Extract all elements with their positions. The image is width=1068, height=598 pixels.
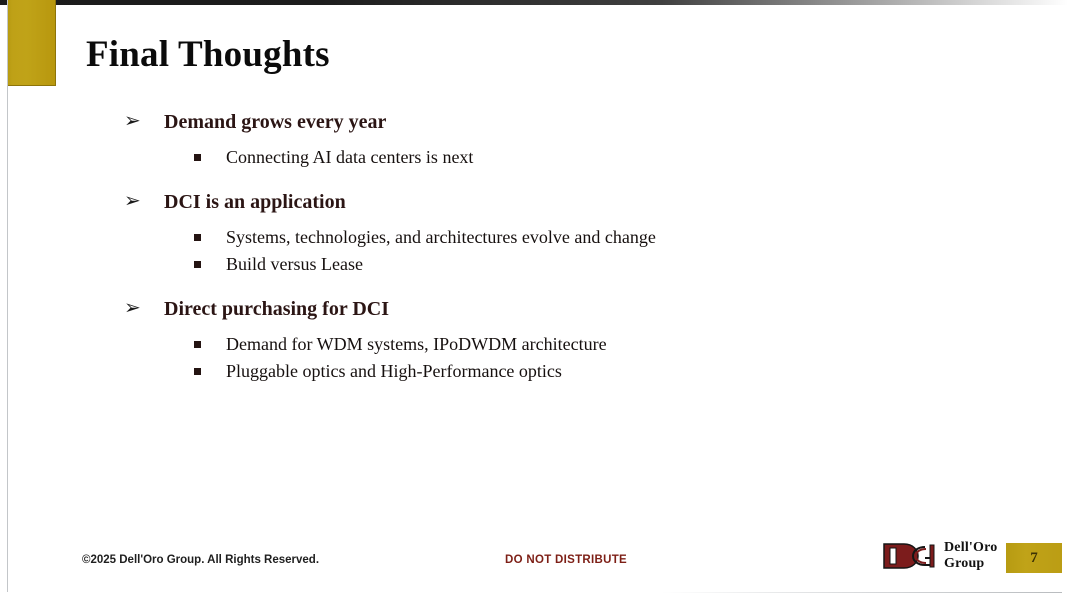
slide-left-border [7, 0, 8, 592]
footer-copyright: ©2025 Dell'Oro Group. All Rights Reserve… [82, 554, 319, 566]
bullet-level1: ➢ Demand grows every year [118, 112, 978, 132]
dg-monogram-icon [882, 540, 938, 572]
bullet-level1: ➢ DCI is an application [118, 192, 978, 212]
page-number-badge: 7 [1006, 543, 1062, 573]
spacer [118, 282, 978, 299]
logo-line-2: Group [944, 557, 997, 571]
bullet-level2: Pluggable optics and High-Performance op… [118, 362, 978, 380]
footer-confidentiality-notice: DO NOT DISTRIBUTE [505, 554, 627, 566]
slide-canvas: Final Thoughts ➢ Demand grows every year… [0, 0, 1068, 598]
square-bullet-icon [194, 261, 201, 268]
page-title: Final Thoughts [86, 36, 330, 75]
bullet-level2-label: Demand for WDM systems, IPoDWDM architec… [226, 334, 607, 354]
slide-bottom-border [7, 592, 1062, 593]
spacer [118, 175, 978, 192]
bullet-list: ➢ Demand grows every year Connecting AI … [118, 112, 978, 389]
company-logo: Dell'Oro Group [882, 540, 997, 572]
logo-wordmark: Dell'Oro Group [944, 541, 997, 571]
gold-accent-block [8, 0, 56, 86]
bullet-level1-label: DCI is an application [164, 191, 346, 213]
arrow-bullet-icon: ➢ [124, 297, 141, 317]
arrow-bullet-icon: ➢ [124, 190, 141, 210]
bullet-level2-label: Build versus Lease [226, 254, 363, 274]
bullet-group: ➢ Demand grows every year Connecting AI … [118, 112, 978, 166]
bullet-level1-label: Demand grows every year [164, 111, 386, 133]
bullet-level1: ➢ Direct purchasing for DCI [118, 299, 978, 319]
square-bullet-icon [194, 341, 201, 348]
arrow-bullet-icon: ➢ [124, 110, 141, 130]
bullet-group: ➢ Direct purchasing for DCI Demand for W… [118, 299, 978, 380]
bullet-level2-label: Connecting AI data centers is next [226, 147, 473, 167]
slide-top-edge [0, 0, 1068, 5]
bullet-level2: Systems, technologies, and architectures… [118, 228, 978, 246]
bullet-level2-label: Pluggable optics and High-Performance op… [226, 361, 562, 381]
logo-line-1: Dell'Oro [944, 541, 997, 555]
bullet-level1-label: Direct purchasing for DCI [164, 298, 389, 320]
page-number: 7 [1030, 550, 1038, 567]
bullet-level2: Build versus Lease [118, 255, 978, 273]
square-bullet-icon [194, 154, 201, 161]
bullet-group: ➢ DCI is an application Systems, technol… [118, 192, 978, 273]
square-bullet-icon [194, 234, 201, 241]
bullet-level2: Connecting AI data centers is next [118, 148, 978, 166]
bullet-level2: Demand for WDM systems, IPoDWDM architec… [118, 335, 978, 353]
bullet-level2-label: Systems, technologies, and architectures… [226, 227, 656, 247]
square-bullet-icon [194, 368, 201, 375]
